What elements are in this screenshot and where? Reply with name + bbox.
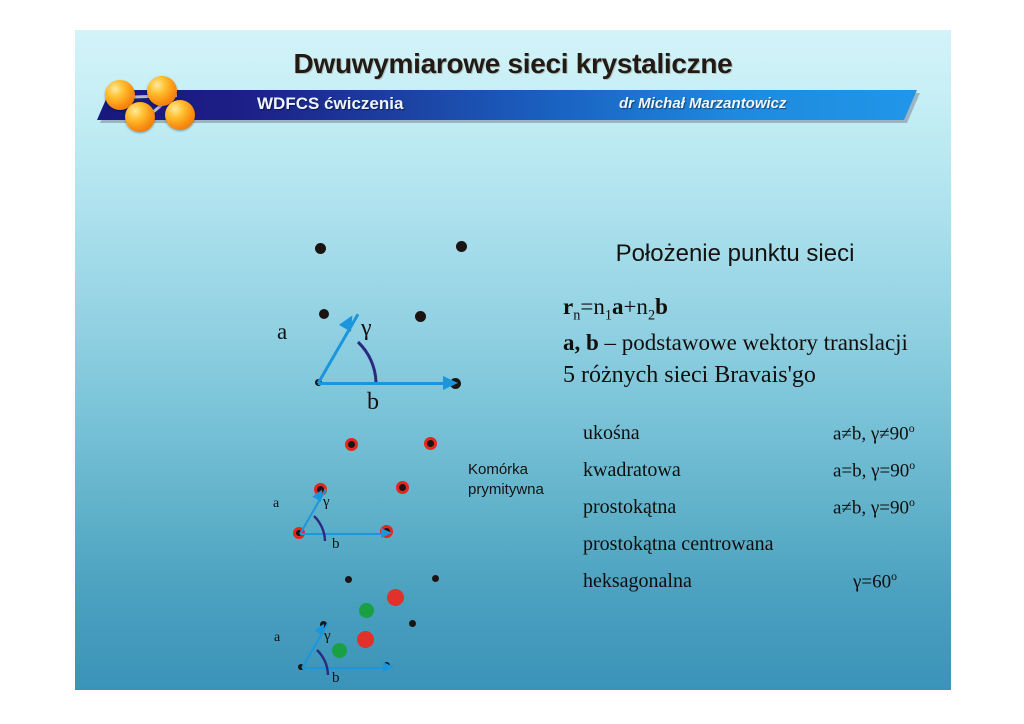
section-heading: Położenie punktu sieci (545, 240, 925, 268)
lattice-condition: a≠b, γ≠90o (833, 422, 915, 445)
molecule-logo-icon (99, 74, 209, 136)
vector-b-arrowhead (381, 528, 392, 538)
lattice-name: prostokątna (583, 496, 676, 519)
lattice-point (319, 309, 329, 319)
vector-a-label: a (274, 630, 280, 646)
list-item: kwadratowa a=b, γ=90o (583, 459, 951, 496)
vector-b-label: b (367, 389, 379, 416)
oblique-lattice-diagram: a γ b (215, 205, 545, 415)
formula-vectors-description: a, b – podstawowe wektory translacji (563, 330, 908, 356)
lattice-point (432, 575, 439, 582)
centering-point-green (359, 603, 374, 618)
bravais-count-line: 5 różnych sieci Bravais'go (563, 362, 816, 389)
vector-a-label: a (277, 319, 287, 345)
banner-author-label: dr Michał Marzantowicz (619, 95, 787, 112)
list-item: prostokątna centrowana (583, 533, 951, 570)
formula-n1-sub: 1 (605, 308, 612, 324)
formula-lattice-vector: rn=n1a+n2b (563, 294, 668, 325)
banner: WDFCS ćwiczenia dr Michał Marzantowicz (97, 90, 937, 124)
formula-vectors-rest: – podstawowe wektory translacji (599, 330, 908, 355)
gamma-label: γ (361, 315, 372, 342)
formula-r: r (563, 294, 573, 319)
lattice-condition: a=b, γ=90o (833, 459, 915, 482)
gamma-label: γ (323, 494, 330, 511)
komorka-line-2: prymitywna (468, 480, 578, 500)
lattice-types-list: ukośna a≠b, γ≠90o kwadratowa a=b, γ=90o … (583, 422, 951, 607)
lattice-condition: a≠b, γ=90o (833, 496, 915, 519)
lattice-name: ukośna (583, 422, 640, 445)
formula-eq: =n (580, 294, 604, 319)
gamma-label: γ (324, 628, 331, 645)
lattice-point (415, 311, 426, 322)
formula-n2-sub: 2 (648, 308, 655, 324)
vector-b-label: b (332, 536, 340, 553)
list-item: heksagonalna γ=60o (583, 570, 951, 607)
lattice-point (348, 441, 355, 448)
banner-bar (97, 90, 917, 120)
vector-a-label: a (273, 496, 279, 512)
slide-canvas: Dwuwymiarowe sieci krystaliczne WDFCS ćw… (75, 30, 951, 690)
centering-point-red (387, 589, 404, 606)
logo-sphere (125, 102, 155, 132)
vector-b-arrowhead (443, 376, 458, 390)
vector-b-arrowhead (383, 662, 394, 672)
banner-course-label: WDFCS ćwiczenia (257, 94, 403, 114)
lattice-point (409, 620, 416, 627)
lattice-point (315, 243, 326, 254)
lattice-name: kwadratowa (583, 459, 681, 482)
formula-plus: +n (623, 294, 647, 319)
formula-b: b (655, 294, 668, 319)
gamma-arc (275, 325, 415, 405)
lattice-condition: γ=60o (853, 570, 897, 593)
list-item: ukośna a≠b, γ≠90o (583, 422, 951, 459)
formula-a: a (612, 294, 624, 319)
lattice-point (399, 484, 406, 491)
vector-b-label: b (332, 670, 340, 687)
red-ring-lattice-diagram: a γ b (260, 428, 480, 553)
formula-vectors-bold: a, b (563, 330, 599, 355)
centered-lattice-diagram: a γ b (260, 563, 490, 690)
list-item: prostokątna a≠b, γ=90o (583, 496, 951, 533)
lattice-name: prostokątna centrowana (583, 533, 773, 556)
lattice-name: heksagonalna (583, 570, 692, 593)
komorka-prymitywna-label: Komórka prymitywna (468, 460, 578, 501)
lattice-point (345, 576, 352, 583)
komorka-line-1: Komórka (468, 460, 578, 480)
logo-sphere (165, 100, 195, 130)
lattice-point (427, 440, 434, 447)
lattice-point (456, 241, 467, 252)
